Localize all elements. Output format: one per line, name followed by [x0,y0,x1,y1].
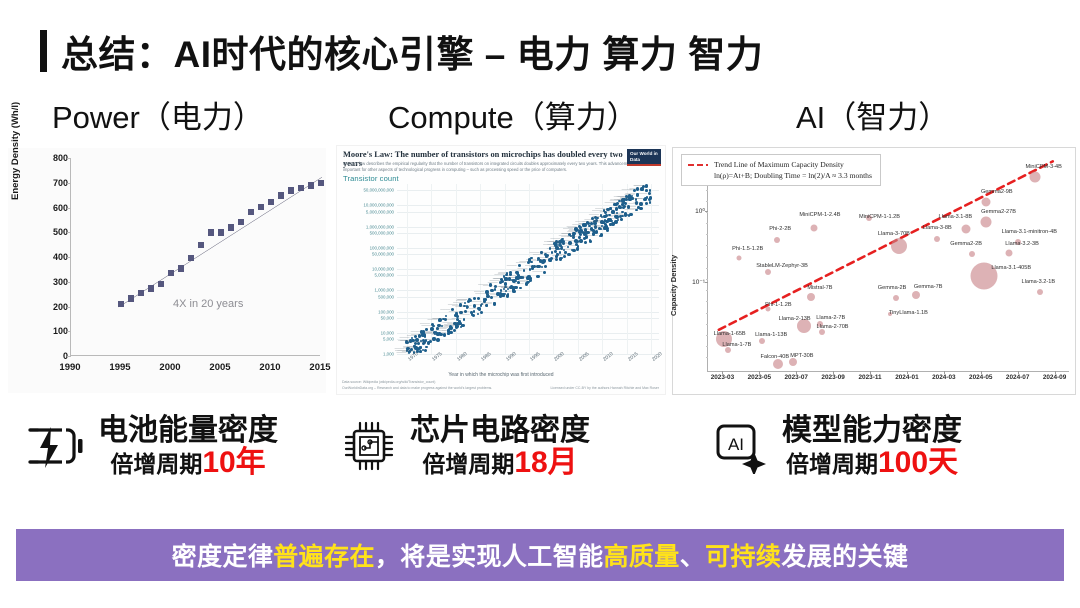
chart-capacity-bubble [893,295,899,301]
chart-capacity-bubble [981,197,990,206]
chart-capacity-xtick: 2024-03 [932,374,955,381]
chart-moore-ytick: 5,000,000,000 [366,209,394,214]
chart-moore-datapoint [460,326,462,328]
chart-moore-datapoint [584,241,587,244]
chart-capacity-bubble-label: Llama-2-70B [817,324,849,330]
chart-energy-ytick: 800 [34,153,68,163]
chart-moore-datapoint [515,271,519,275]
chart-moore-ytick: 500,000 [378,294,394,299]
chart-moore-datapoint [424,349,427,352]
chart-capacity-bubble-label: Gemma-2B [878,285,907,291]
page-title: 总结：AI时代的核心引擎 – 电力 算力 智力 [40,24,763,78]
chart-capacity-xtickmark [796,371,797,374]
chart-capacity-xtickmark [722,371,723,374]
chart-moore-datapoint-label: ———— [562,232,572,235]
chart-capacity-yminortick [706,324,708,325]
chart-moore-datapoint [636,193,639,196]
chart-moore-datapoint-label: ———— [472,300,482,303]
chart-capacity-xtickmark [833,371,834,374]
chart-capacity-yminortick [706,234,708,235]
ai-sparkle-icon: AI [710,418,770,474]
chart-capacity-bubble-label: Llama-1-7B [722,342,751,348]
dashed-line-icon [688,159,708,177]
chart-moore-datapoint [543,271,546,274]
chart-energy-density: Energy Density (Wh/l) 010020030040050060… [8,148,326,393]
chart-moore-datapoint [645,202,648,205]
chart-moore-datapoint [425,346,427,348]
chart-moore-datapoint [615,215,619,219]
chart-moore-yticks: 50,000,000,00010,000,000,0005,000,000,00… [337,184,397,354]
chart-capacity-bubble-label: Llama-2-13B [779,316,811,322]
chart-moore-ytick: 10,000,000,000 [363,203,394,208]
chart-moore-datapoint [611,222,615,226]
chart-moore-datapoint [494,285,497,288]
chart-energy-datapoint [158,281,165,288]
chart-capacity-xtick: 2023-07 [785,374,808,381]
chart-capacity-bubble-label: Llama-3.1-minitron-4B [1002,229,1057,235]
chart-moore-datapoint [443,333,447,337]
chart-capacity-bubble [736,256,741,261]
chart-capacity-yminortick [706,257,708,258]
chart-capacity-xtick: 2023-11 [858,374,881,381]
chart-moore-gridline [397,312,659,313]
chart-energy-datapoint [168,270,175,277]
chart-energy-ytick: 0 [34,351,68,361]
chart-moore-datapoint [477,307,480,310]
chart-moore-datapoint-label: ———— [485,293,495,296]
chart-moore-ylabel: Transistor count [343,174,399,183]
chart-moore-datapoint-label: ———— [584,230,594,233]
chart-moore-footer-license: Licensed under CC-BY by the authors Hann… [551,386,660,390]
chart-moore-gridline [397,297,659,298]
chart-moore-gridline [397,248,659,249]
chart-moore-datapoint [551,251,553,253]
chart-capacity-xtick: 2024-09 [1043,374,1066,381]
chart-capacity-density: Capacity Density 10⁰10⁻¹2023-032023-0520… [672,147,1076,395]
chart-moore-footer-source: Data source: Wikipedia (wikipedia.org/wi… [342,380,435,384]
chart-moore-datapoint-label: ———— [543,244,553,247]
chart-capacity-yminortick [706,357,708,358]
chart-moore-datapoint [526,276,529,279]
column-heading-power: Power（电力） [52,92,264,137]
chart-moore-datapoint [623,198,626,201]
chart-moore-datapoint [583,237,587,241]
chart-moore-datapoint-label: ———— [626,206,636,209]
chart-moore-datapoint [528,258,532,262]
chart-moore-datapoint [536,275,539,278]
metric-ai-title: 模型能力密度 [782,414,962,448]
chart-moore-datapoint-label: ———— [532,271,542,274]
chart-moore-datapoint [406,347,409,350]
chart-capacity-xtick: 2023-05 [748,374,771,381]
chart-moore-gridline [397,227,659,228]
chart-moore-datapoint [582,223,585,226]
chart-capacity-bubble-label: MiniCPM-3-4B [1026,164,1062,170]
chart-moore-datapoint [575,229,578,232]
chart-capacity-plot: 10⁰10⁻¹2023-032023-052023-072023-092023-… [707,156,1069,372]
chart-moore-datapoint [511,279,513,281]
chart-moore-datapoint-label: ———— [592,215,602,218]
chart-capacity-bubble-label: StableLM-Zephyr-3B [756,263,808,269]
chart-capacity-yminortick [706,201,708,202]
chart-energy-datapoint [198,242,205,249]
chart-energy-datapoint [208,229,215,236]
chart-moore-datapoint-label: ———— [600,210,610,213]
chart-moore-datapoint [477,313,480,316]
chart-moore-datapoint-label: ———— [624,209,634,212]
chart-moore-vgridline [505,184,506,354]
chart-energy-xtick: 2010 [259,362,280,373]
chart-energy-trendline [71,158,320,355]
chart-energy-ytick: 100 [34,326,68,336]
chart-moore-datapoint [637,206,640,209]
chart-capacity-bubble [912,291,920,299]
chart-moore-datapoint-label: ———— [493,277,503,280]
chart-energy-ytickmark [67,307,71,308]
chart-moore-datapoint [519,287,521,289]
metric-battery: 电池能量密度 倍增周期 10年 [18,414,278,478]
chart-moore-datapoint [473,297,476,300]
chart-moore-datapoint [516,276,520,280]
chart-moore-datapoint [439,333,442,336]
chart-moore-datapoint-label: ———— [503,286,513,289]
chart-energy-ytick: 500 [34,227,68,237]
chart-moore-gridline [397,290,659,291]
banner-highlight-2: 高质量 [604,543,680,571]
chart-capacity-bubble [773,359,783,369]
chart-moore-xlabel: Year in which the microchip was first in… [448,372,553,378]
metric-battery-text: 电池能量密度 倍增周期 10年 [98,414,278,478]
chart-moore-vgridline [407,184,408,354]
banner-highlight-3: 可持续 [705,543,781,571]
chart-capacity-bubble-label: Gemma2-27B [981,209,1016,215]
chart-capacity-yminortick [706,245,708,246]
chart-moore-datapoint [635,209,637,211]
chart-energy-datapoint [248,209,255,216]
chart-moore-datapoint-label: ———— [425,339,435,342]
chart-moore-datapoint [430,327,434,331]
chart-moore-datapoint-label: ———— [529,251,539,254]
chart-moore-ytick: 100,000,000 [370,245,394,250]
metric-battery-sub-prefix: 倍增周期 [110,451,202,477]
chart-moore-datapoint [571,249,573,251]
chart-capacity-bubble-label: MPT-30B [790,353,813,359]
chart-moore-datapoint-label: ———— [605,202,615,205]
banner-part-1: 密度定律 [172,543,274,571]
chart-capacity-xtickmark [1018,371,1019,374]
chart-capacity-bubble-label: Llama-3.1-8B [938,214,972,220]
chart-capacity-bubble [962,224,971,233]
charts-band: Energy Density (Wh/l) 010020030040050060… [0,145,1080,397]
chart-moore-datapoint [620,218,623,221]
chart-capacity-bubble [1037,289,1043,295]
chart-energy-datapoint [278,192,285,199]
chart-energy-datapoint [188,255,195,262]
chart-capacity-bubble-label: Mistral-7B [807,285,832,291]
chart-moore-plot: ————————————————————————————————————————… [397,184,659,354]
chart-capacity-yminortick [706,212,708,213]
chart-moore-datapoint-label: ———— [445,318,455,321]
chart-moore-ytick: 100,000 [378,309,394,314]
chart-capacity-xtickmark [981,371,982,374]
metric-ai-sub: 倍增周期 100天 [786,448,958,478]
chart-moore-datapoint [615,207,618,210]
chart-energy-ytickmark [67,282,71,283]
chart-energy-ytickmark [67,257,71,258]
chart-energy-datapoint [238,219,245,226]
chart-moore-datapoint [418,347,421,350]
chart-moore-datapoint-label: ———— [540,251,550,254]
chart-moore-datapoint [639,207,642,210]
chart-energy-datapoint [128,295,135,302]
chart-capacity-xtick: 2023-09 [821,374,844,381]
chart-moore-datapoint [564,251,566,253]
legend-line-1: Trend Line of Maximum Capacity Density [714,159,872,170]
chart-capacity-legend: Trend Line of Maximum Capacity Density l… [681,154,881,186]
chart-capacity-bubble-label: Llama-3-8B [923,225,952,231]
chart-moore-datapoint [574,239,578,243]
chart-moore-datapoint [496,292,500,296]
chart-capacity-bubble-label: Llama-3.2-3B [1005,241,1039,247]
chart-moore-datapoint [506,294,509,297]
chart-energy-datapoint [218,229,225,236]
chart-capacity-yminortick [706,290,708,291]
chart-capacity-bubble [759,338,765,344]
chart-energy-xtick: 1995 [109,362,130,373]
chart-capacity-yminortick [706,335,708,336]
chart-moore-ytick: 50,000,000,000 [363,188,394,193]
chart-moore-datapoint [523,269,526,272]
metrics-row: 电池能量密度 倍增周期 10年 [0,408,1080,512]
chart-moore-datapoint [568,253,571,256]
chart-capacity-yminortick [706,346,708,347]
chart-moore-datapoint-label: ———— [634,185,644,188]
banner-highlight-1: 普遍存在 [273,543,375,571]
chart-moore-ytick: 10,000,000 [372,267,394,272]
chart-capacity-ylabel: Capacity Density [669,255,678,316]
chart-capacity-bubble [1029,171,1040,182]
chart-moore-datapoint [544,265,547,268]
chart-moore-datapoint-label: ———— [457,298,467,301]
chart-moore-ytick: 50,000 [381,315,394,320]
chart-moore-datapoint [449,325,452,328]
title-accent-bar [40,30,47,72]
chart-moore-datapoint [480,311,483,314]
chart-energy-datapoint [268,199,275,206]
chart-capacity-xtickmark [1055,371,1056,374]
chart-capacity-bubble-label: Falcon-40B [760,354,789,360]
battery-bolt-icon [18,420,86,472]
chart-energy-datapoint [118,301,125,308]
chart-moores-law: Moore's Law: The number of transistors o… [336,145,666,395]
chart-moore-datapoint [616,202,619,205]
chart-capacity-bubble [807,293,815,301]
chart-capacity-bubble [1006,249,1013,256]
chart-moore-vgridline [553,184,554,354]
chart-moore-gridline [397,254,659,255]
chart-capacity-bubble-label: Llama-1-65B [714,331,746,337]
chart-moore-datapoint [477,297,480,300]
chart-capacity-bubble-label: Gemma-7B [914,284,943,290]
chart-moore-datapoint-label: ———— [483,285,493,288]
chart-moore-datapoint [559,257,563,261]
chart-capacity-bubble [765,269,771,275]
chart-capacity-bubble-label: Phi-1-1.2B [765,302,791,308]
legend-line-2: ln(ρ)=At+B; Doubling Time = ln(2)/A ≈ 3.… [714,170,872,181]
chart-capacity-bubble-label: MiniCPM-1-1.2B [859,214,900,220]
chart-energy-xtick: 2015 [309,362,330,373]
chart-energy-datapoint [298,185,305,192]
chart-capacity-bubble-label: Llama-3-70B [878,231,910,237]
banner-part-3: 、 [680,543,705,571]
chart-energy-ytickmark [67,331,71,332]
chart-moore-datapoint-label: ———— [490,280,500,283]
chart-moore-gridline [397,233,659,234]
chart-moore-datapoint [559,251,562,254]
chart-capacity-bubble [789,358,797,366]
chart-moore-datapoint-label: ———— [634,202,644,205]
metric-ai-period: 100天 [878,448,958,478]
chart-capacity-xtick: 2024-01 [895,374,918,381]
chart-capacity-xtick: 2024-07 [1006,374,1029,381]
chart-capacity-xtickmark [759,371,760,374]
chart-capacity-bubble [980,217,991,228]
banner-part-2: ，将是实现人工智能 [375,543,604,571]
chart-moore-datapoint [573,232,576,235]
chart-moore-datapoint [611,210,614,213]
chart-moore-datapoint-label: ———— [436,329,446,332]
chart-capacity-bubble-label: Phi-1.5-1.2B [732,246,763,252]
chart-energy-ytick: 400 [34,252,68,262]
chart-capacity-bubble [969,251,975,257]
chart-moore-datapoint [579,229,581,231]
chart-moore-datapoint-label: ———— [431,318,441,321]
chart-capacity-bubble [774,237,780,243]
chart-moore-datapoint-label: ———— [459,311,469,314]
metric-battery-period: 10年 [202,448,265,478]
metric-chip-title: 芯片电路密度 [410,414,590,448]
chart-moore-ytick: 50,000,000 [372,252,394,257]
chart-moore-datapoint [514,286,518,290]
chart-capacity-bubble-label: Llama-3.1-405B [991,265,1031,271]
chart-energy-datapoint [178,265,185,272]
chart-moore-subtitle: Moore's law describes the empirical regu… [343,161,639,174]
conclusion-banner: 密度定律普遍存在，将是实现人工智能高质量、可持续发展的关键 [16,529,1064,581]
metric-battery-sub: 倍增周期 10年 [110,448,265,478]
chart-moore-datapoint-label: ———— [438,325,448,328]
chart-capacity-yminortick [706,223,708,224]
chart-capacity-ytick: 10⁻¹ [692,278,705,286]
chart-energy-datapoint [318,180,325,187]
chart-capacity-ytick: 10⁰ [695,207,705,215]
chart-capacity-ytickmark [705,282,708,283]
chart-moore-ytick: 1,000,000 [374,288,394,293]
chart-moore-datapoint-label: ———— [632,198,642,201]
metric-chip: 芯片电路密度 倍增周期 18月 [340,414,590,478]
chart-moore-datapoint-label: ———— [448,303,458,306]
conclusion-banner-text: 密度定律普遍存在，将是实现人工智能高质量、可持续发展的关键 [172,537,909,573]
chart-capacity-yminortick [706,313,708,314]
chart-capacity-xtickmark [870,371,871,374]
chart-moore-datapoint [418,335,421,338]
chart-capacity-bubble-label: Llama-3.2-1B [1022,279,1056,285]
metric-ai-text: 模型能力密度 倍增周期 100天 [782,414,962,478]
chart-capacity-bubble-label: Llama-2-7B [816,315,845,321]
chart-moore-datapoint-label: ———— [568,226,578,229]
chart-moore-datapoint-label: ———— [416,341,426,344]
chart-energy-ylabel: Energy Density (Wh/l) [10,102,21,200]
chart-moore-datapoint [595,230,598,233]
chart-moore-datapoint-label: ———— [395,347,405,350]
chart-capacity-xtick: 2024-05 [969,374,992,381]
chart-moore-datapoint [649,201,651,203]
chart-energy-yticks: 0100200300400500600700800 [26,148,68,393]
metric-battery-title: 电池能量密度 [98,414,278,448]
chart-moore-ytick: 500,000,000 [370,230,394,235]
chart-capacity-bubble [811,224,818,231]
metric-chip-text: 芯片电路密度 倍增周期 18月 [410,414,590,478]
chart-energy-ytick: 700 [34,178,68,188]
chart-capacity-bubble-label: TinyLlama-1.1B [889,310,928,316]
title-label: 总结：AI时代的核心引擎 – 电力 算力 智力 [61,24,763,78]
chart-moore-datapoint [561,246,563,248]
chart-moore-datapoint [606,227,609,230]
chart-energy-datapoint [308,182,315,189]
chart-moore-datapoint [501,280,504,283]
chart-capacity-xtickmark [944,371,945,374]
chart-moore-vgridline [480,184,481,354]
column-heading-compute: Compute（算力） [388,92,638,137]
chart-capacity-bubble-label: Gemma2-9B [981,189,1013,195]
chart-energy-datapoint [288,187,295,194]
chart-moore-ytick: 1,000,000,000 [366,224,394,229]
chart-moore-datapoint-label: ———— [564,243,574,246]
chart-energy-ytickmark [67,158,71,159]
chart-moore-datapoint [472,314,475,317]
chart-moore-ytick: 5,000 [383,337,394,342]
chart-moore-datapoint-label: ———— [507,264,517,267]
chart-capacity-bubble [891,238,907,254]
chart-capacity-bubble-label: MiniCPM-1-2.4B [799,212,840,218]
chart-moore-datapoint [624,212,627,215]
chart-moore-datapoint [493,302,496,305]
chart-moore-datapoint [624,202,627,205]
metric-chip-period: 18月 [514,448,577,478]
chart-moore-ytick: 5,000,000 [374,273,394,278]
chart-capacity-bubble [934,236,940,242]
chart-capacity-bubble-label: Phi-2-2B [769,226,791,232]
chart-energy-datapoint [258,204,265,211]
chart-capacity-xtickmark [907,371,908,374]
banner-part-4: 发展的关键 [781,543,908,571]
chart-moore-datapoint [645,189,648,192]
chart-capacity-bubble-label: Llama-1-13B [755,332,787,338]
chart-moore-ytick: 1,000 [383,352,394,357]
chart-moore-datapoint [548,258,552,262]
chart-capacity-yminortick [706,301,708,302]
chart-moore-vgridline [578,184,579,354]
chart-energy-ytickmark [67,208,71,209]
chart-energy-ytick: 200 [34,302,68,312]
our-world-in-data-badge: Our World in Data [627,149,661,166]
chart-moore-datapoint [629,213,632,216]
chart-energy-ytickmark [67,232,71,233]
chart-energy-annotation: 4X in 20 years [173,298,243,310]
chart-moore-datapoint-label: ———— [592,222,602,225]
chart-moore-footer-org: OurWorldinData.org – Research and data t… [342,386,492,390]
column-heading-ai: AI（智力） [796,92,949,137]
chart-moore-datapoint [618,205,621,208]
